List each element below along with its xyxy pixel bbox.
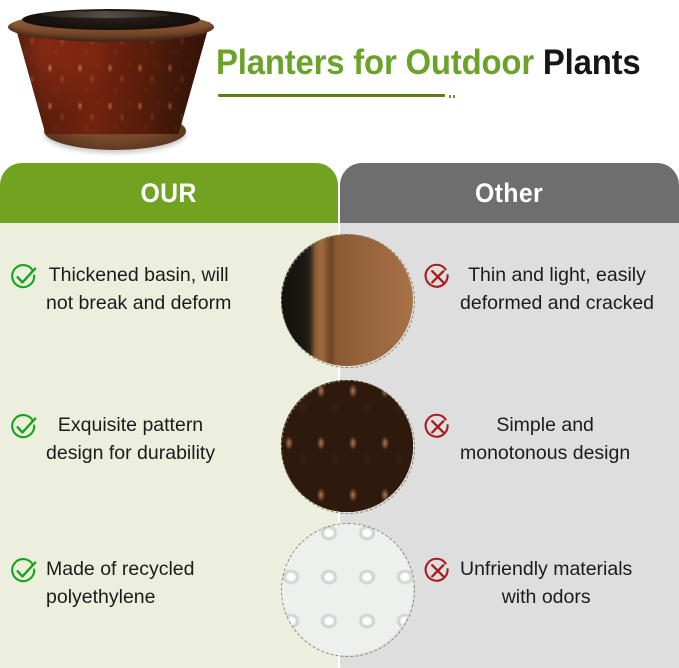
pot-interior-highlight (40, 11, 170, 18)
infographic-page: Planters for Outdoor Plants OUR Other (0, 0, 679, 668)
detail-circle-pebble-pattern (281, 380, 413, 512)
detail-circle-texture (336, 234, 413, 366)
detail-circle-image (281, 523, 413, 655)
cross-circle-icon (424, 557, 452, 585)
comparison-headers: OUR Other (0, 163, 679, 223)
cross-circle-icon (424, 413, 452, 441)
header-our: OUR (0, 163, 338, 223)
detail-circle-polyethylene-pellets (281, 523, 413, 655)
detail-circle-image (281, 234, 413, 366)
other-feature-row: Unfriendly materials with odors (424, 555, 676, 611)
other-feature-text: Thin and light, easily deformed and crac… (460, 261, 654, 317)
header-other-label: Other (475, 178, 543, 209)
title-underline-dots (449, 95, 459, 98)
hero-section: Planters for Outdoor Plants (0, 0, 679, 163)
page-title-primary: Planters for Outdoor (216, 43, 534, 82)
page-title: Planters for Outdoor Plants (216, 42, 671, 84)
header-our-label: OUR (141, 178, 197, 209)
other-feature-text: Unfriendly materials with odors (460, 555, 632, 611)
other-feature-row: Thin and light, easily deformed and crac… (424, 261, 676, 317)
other-feature-text: Simple and monotonous design (460, 411, 630, 467)
title-underline (218, 94, 445, 97)
detail-circle-pot-wall-thickness (281, 234, 413, 366)
header-other: Other (340, 163, 679, 223)
cross-circle-icon (424, 263, 452, 291)
product-photo-planter (6, 4, 216, 159)
other-feature-row: Simple and monotonous design (424, 411, 676, 467)
page-title-secondary: Plants (534, 43, 641, 82)
detail-circle-image (281, 380, 413, 512)
